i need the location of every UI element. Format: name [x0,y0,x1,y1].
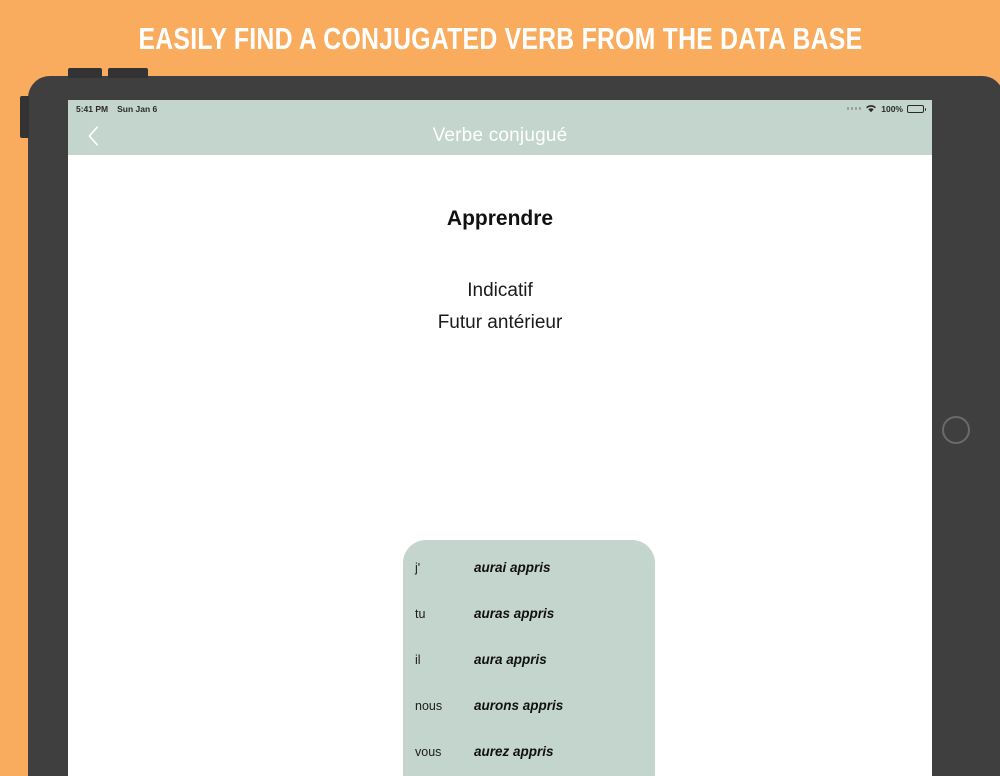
status-bar: 5:41 PM Sun Jan 6 100% [68,100,932,117]
conjugation-row: il aura appris [403,652,655,698]
conjugation-row: j' aurai appris [403,560,655,606]
conjugation-row: vous aurez appris [403,744,655,776]
volume-up-button[interactable] [68,68,102,78]
status-bar-right-group: 100% [847,104,924,114]
conjugation-card: j' aurai appris tu auras appris il aura … [403,540,655,776]
device-screen: 5:41 PM Sun Jan 6 100% [68,100,932,776]
signal-dots-icon [847,107,862,110]
silent-switch-button[interactable] [20,96,29,138]
mood-label: Indicatif [68,280,932,302]
tense-label: Futur antérieur [68,312,932,334]
back-button[interactable] [76,117,110,155]
page-title: Verbe conjugué [68,125,932,147]
conjugation-row: tu auras appris [403,606,655,652]
promo-headline: EASILY FIND A CONJUGATED VERB FROM THE D… [138,21,862,57]
conjugation-pronoun: vous [403,745,474,759]
conjugation-form: aurons appris [474,698,563,713]
battery-percent-label: 100% [881,104,903,114]
conjugation-row: nous aurons appris [403,698,655,744]
chevron-left-icon [88,126,99,146]
status-bar-time: 5:41 PM [76,104,108,114]
conjugation-form: aurai appris [474,560,551,575]
battery-full-icon [907,105,924,113]
conjugation-pronoun: il [403,653,474,667]
conjugation-pronoun: j' [403,561,474,575]
tablet-device-frame: 5:41 PM Sun Jan 6 100% [28,76,1000,776]
status-bar-left-group: 5:41 PM Sun Jan 6 [76,104,157,114]
conjugation-form: aurez appris [474,744,554,759]
conjugation-pronoun: tu [403,607,474,621]
promo-banner: EASILY FIND A CONJUGATED VERB FROM THE D… [0,0,1000,78]
status-bar-date: Sun Jan 6 [117,104,157,114]
conjugation-form: aura appris [474,652,547,667]
content-area: Apprendre Indicatif Futur antérieur j' a… [68,207,932,776]
wifi-icon [865,104,877,113]
conjugation-pronoun: nous [403,699,474,713]
navigation-bar: Verbe conjugué [68,117,932,155]
verb-title: Apprendre [68,207,932,231]
volume-down-button[interactable] [108,68,148,78]
conjugation-form: auras appris [474,606,554,621]
home-button[interactable] [942,416,970,444]
